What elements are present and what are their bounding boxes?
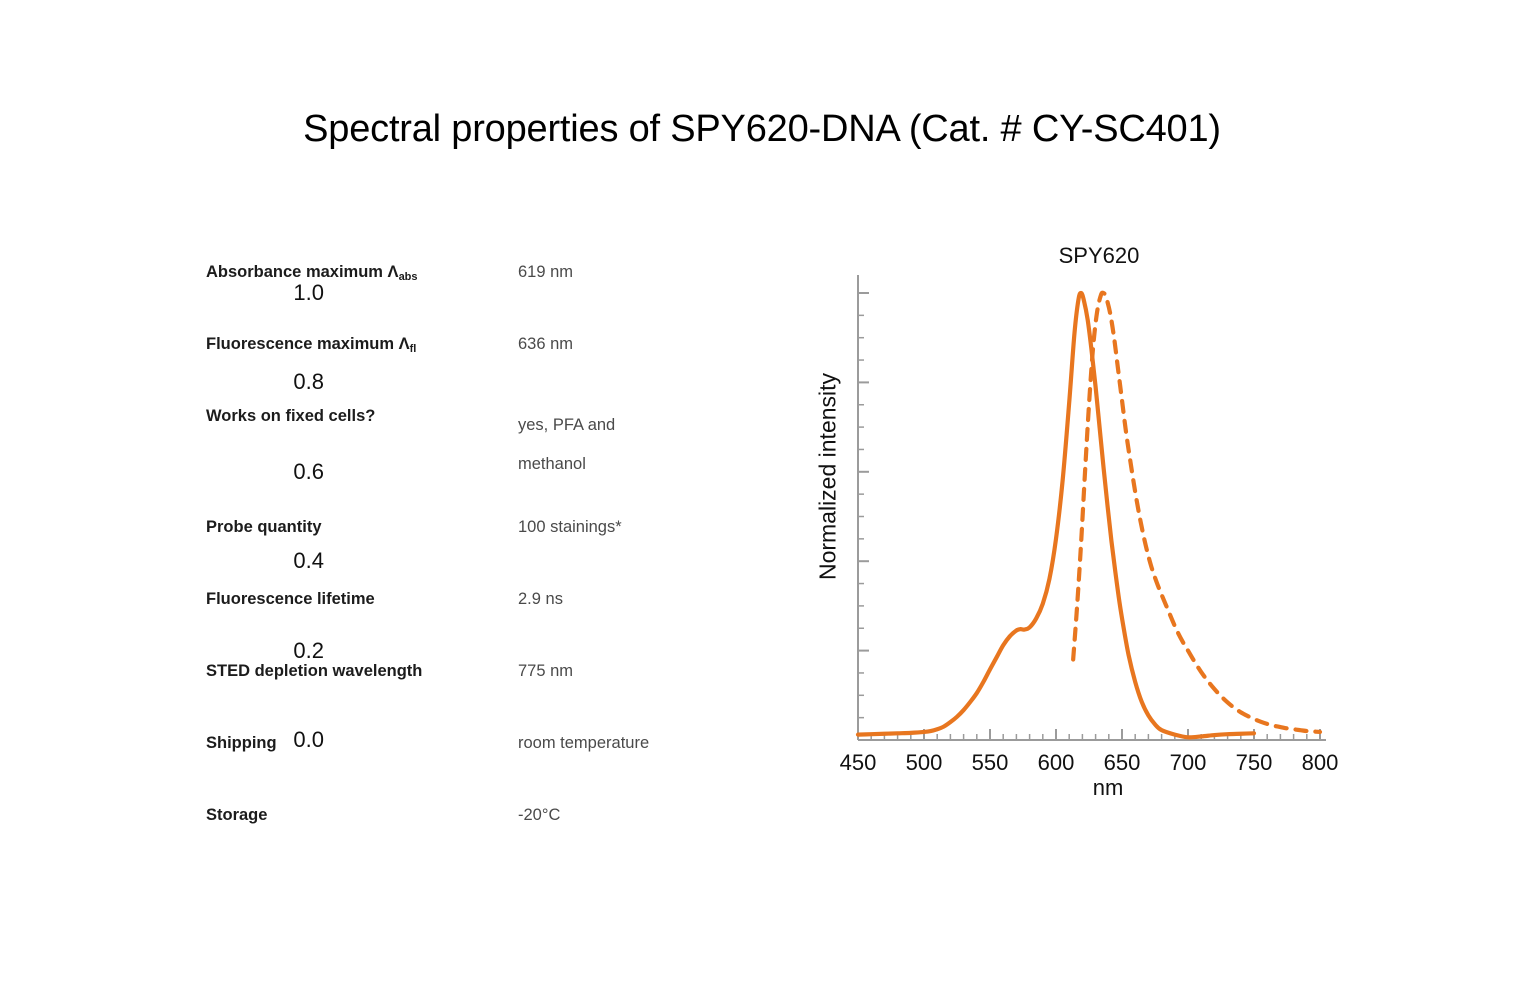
page-title: Spectral properties of SPY620-DNA (Cat. … (0, 108, 1524, 151)
property-row: Fluorescence lifetime2.9 ns (206, 589, 726, 609)
plot-area (760, 235, 1380, 795)
y-tick-label: 0.2 (268, 640, 324, 662)
spectra-chart: SPY620 Normalized intensity nm 0.00.20.4… (760, 235, 1380, 825)
property-row: Absorbance maximum Λabs619 nm (206, 262, 726, 284)
property-value: yes, PFA andmethanol (518, 406, 615, 484)
property-label: Shipping (206, 733, 518, 753)
property-value: 100 stainings* (518, 517, 622, 537)
property-value-line: 619 nm (518, 262, 573, 282)
property-value: 636 nm (518, 334, 573, 354)
property-value-line: 636 nm (518, 334, 573, 354)
property-value-line: -20°C (518, 805, 560, 825)
property-label: Fluorescence maximum Λfl (206, 334, 518, 356)
property-row: Fluorescence maximum Λfl636 nm (206, 334, 726, 356)
property-value-line: yes, PFA and (518, 406, 615, 445)
y-tick-label: 0.4 (268, 550, 324, 572)
property-value-line: 100 stainings* (518, 517, 622, 537)
property-label: Absorbance maximum Λabs (206, 262, 518, 284)
y-tick-label: 0.8 (268, 371, 324, 393)
property-value-line: room temperature (518, 733, 649, 753)
property-label-subscript: abs (399, 271, 418, 283)
property-label: Fluorescence lifetime (206, 589, 518, 609)
property-label: STED depletion wavelength (206, 661, 518, 681)
property-label: Storage (206, 805, 518, 825)
property-label: Probe quantity (206, 517, 518, 537)
property-row: STED depletion wavelength775 nm (206, 661, 726, 681)
property-label: Works on fixed cells? (206, 406, 518, 426)
y-tick-label: 1.0 (268, 282, 324, 304)
property-label-subscript: fl (410, 343, 417, 355)
property-value: 619 nm (518, 262, 573, 282)
property-row: Probe quantity100 stainings* (206, 517, 726, 537)
property-row: Storage-20°C (206, 805, 726, 825)
y-tick-label: 0.0 (268, 729, 324, 751)
property-value: 2.9 ns (518, 589, 563, 609)
property-value-line: 2.9 ns (518, 589, 563, 609)
spectrum-curve-absorption (858, 293, 1254, 737)
property-value-line: methanol (518, 445, 615, 484)
property-value: -20°C (518, 805, 560, 825)
y-tick-label: 0.6 (268, 461, 324, 483)
property-value: room temperature (518, 733, 649, 753)
property-value-line: 775 nm (518, 661, 573, 681)
property-value: 775 nm (518, 661, 573, 681)
